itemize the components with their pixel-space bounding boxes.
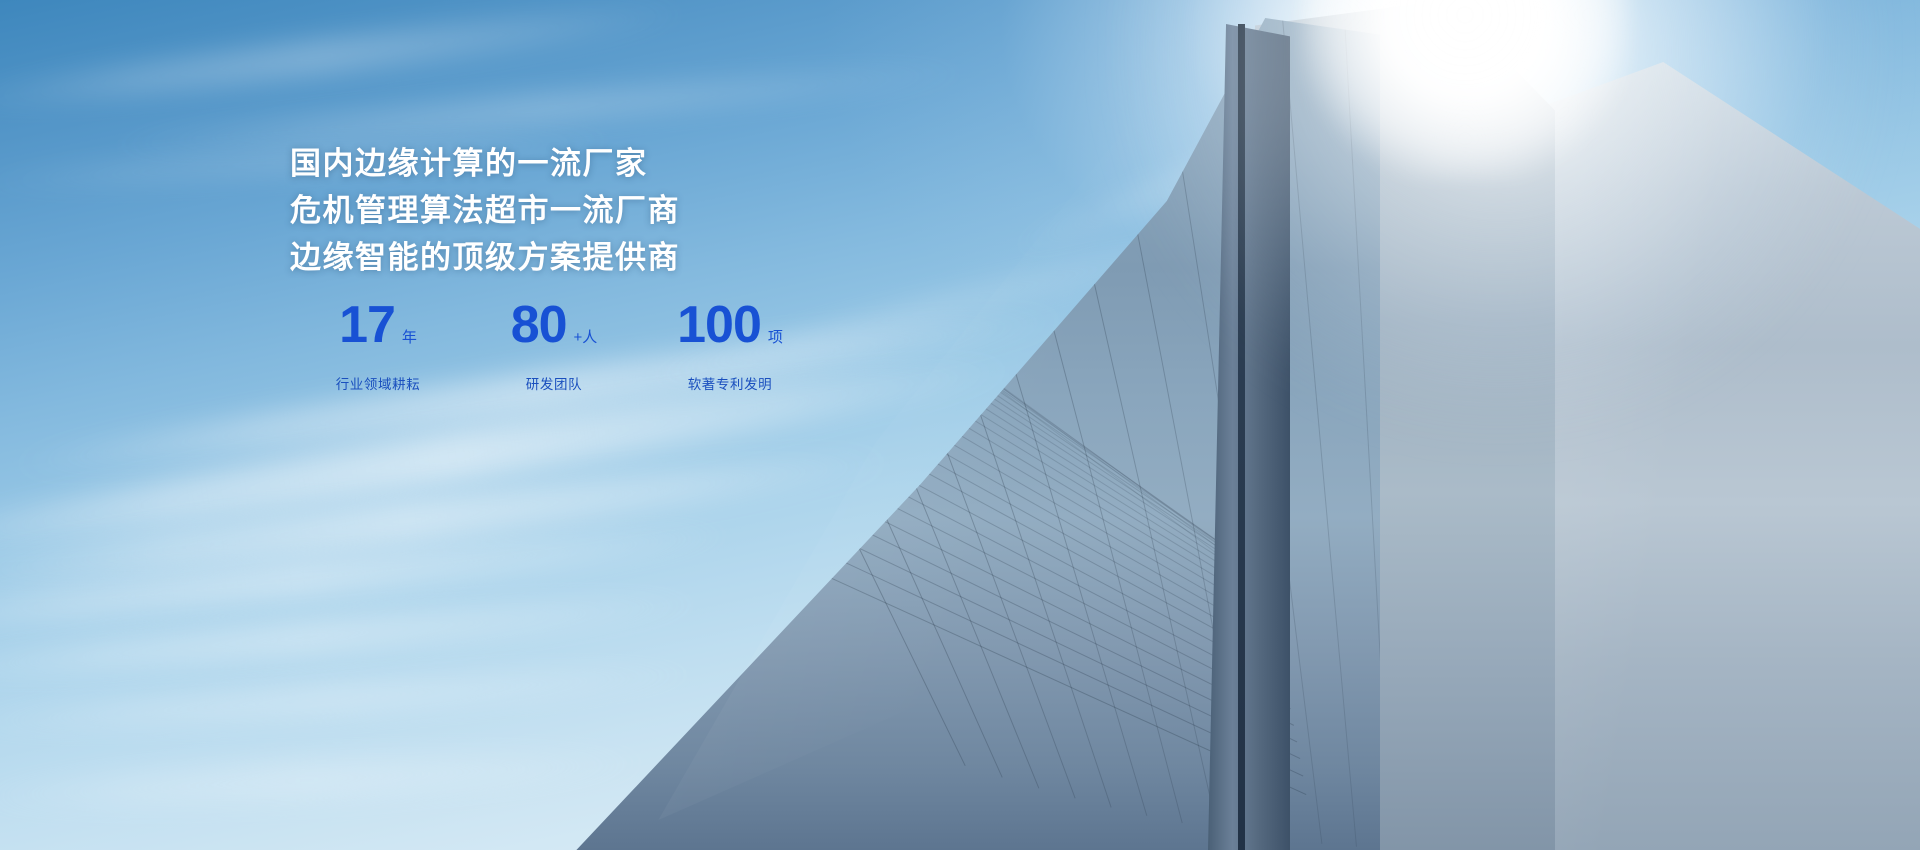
headline-line-3: 边缘智能的顶级方案提供商 bbox=[290, 234, 910, 281]
stat-unit-patents: 项 bbox=[768, 330, 783, 345]
stats-row: 17 年 行业领域耕耘 80 +人 研发团队 100 项 软著专利发明 bbox=[290, 299, 910, 393]
headline-line-2: 危机管理算法超市一流厂商 bbox=[290, 187, 910, 234]
stat-label-patents: 软著专利发明 bbox=[642, 373, 818, 393]
stat-number-patents: 100 bbox=[677, 299, 761, 351]
stat-value-row: 17 年 bbox=[290, 299, 466, 355]
stat-number-team: 80 bbox=[511, 299, 567, 351]
stat-item-team: 80 +人 研发团队 bbox=[466, 299, 642, 393]
stat-number-years: 17 bbox=[339, 299, 395, 351]
stat-value-row: 100 项 bbox=[642, 299, 818, 355]
stat-item-years: 17 年 行业领域耕耘 bbox=[290, 299, 466, 393]
stat-unit-years: 年 bbox=[402, 330, 417, 345]
stat-item-patents: 100 项 软著专利发明 bbox=[642, 299, 818, 393]
headline-line-1: 国内边缘计算的一流厂家 bbox=[290, 140, 910, 187]
stat-unit-team: +人 bbox=[574, 330, 598, 345]
headline-block: 国内边缘计算的一流厂家 危机管理算法超市一流厂商 边缘智能的顶级方案提供商 bbox=[290, 140, 910, 281]
stat-label-team: 研发团队 bbox=[466, 373, 642, 393]
hero-content: 国内边缘计算的一流厂家 危机管理算法超市一流厂商 边缘智能的顶级方案提供商 17… bbox=[290, 140, 910, 393]
stat-value-row: 80 +人 bbox=[466, 299, 642, 355]
hero-banner: 国内边缘计算的一流厂家 危机管理算法超市一流厂商 边缘智能的顶级方案提供商 17… bbox=[0, 0, 1920, 850]
stat-label-years: 行业领域耕耘 bbox=[290, 373, 466, 393]
